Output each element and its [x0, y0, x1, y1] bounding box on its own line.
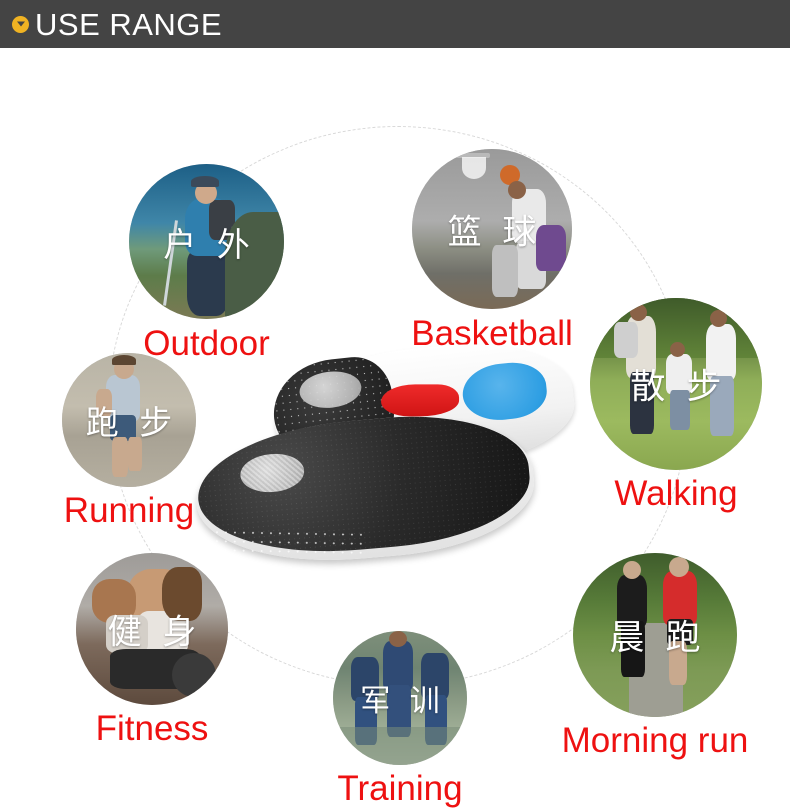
- section-header-bar: USE RANGE: [0, 0, 790, 48]
- morning-run-cn-overlay: 晨 跑: [573, 610, 737, 661]
- morning-run-photo: 晨 跑: [573, 553, 737, 717]
- training-label: Training: [337, 771, 462, 806]
- use-range-diagram: 户 外 Outdoor 篮 球 Basketball: [0, 48, 790, 745]
- chevron-down-circle-icon: [12, 16, 29, 33]
- outdoor-cn-overlay: 户 外: [129, 218, 284, 266]
- running-label: Running: [64, 493, 194, 528]
- insole-product-image: [196, 344, 582, 566]
- use-case-morning-run[interactable]: 晨 跑 Morning run: [573, 553, 737, 717]
- walking-cn-overlay: 散 步: [590, 359, 762, 410]
- use-case-walking[interactable]: 散 步 Walking: [590, 298, 762, 470]
- running-photo: 跑 步: [62, 353, 196, 487]
- outdoor-photo: 户 外: [129, 164, 284, 319]
- fitness-cn-overlay: 健 身: [76, 605, 228, 654]
- fitness-photo: 健 身: [76, 553, 228, 705]
- use-case-running[interactable]: 跑 步 Running: [62, 353, 196, 487]
- walking-photo: 散 步: [590, 298, 762, 470]
- training-cn-overlay: 军 训: [333, 676, 467, 720]
- insole-edge-perforations: [212, 528, 362, 557]
- use-case-outdoor[interactable]: 户 外 Outdoor: [129, 164, 284, 319]
- basketball-cn-overlay: 篮 球: [412, 205, 572, 254]
- page-title: USE RANGE: [35, 9, 222, 40]
- walking-label: Walking: [614, 476, 737, 511]
- insole-top-view: [191, 406, 540, 573]
- running-cn-overlay: 跑 步: [62, 396, 196, 444]
- fitness-label: Fitness: [96, 711, 209, 746]
- basketball-photo: 篮 球: [412, 149, 572, 309]
- morning-run-label: Morning run: [562, 723, 749, 758]
- use-case-fitness[interactable]: 健 身 Fitness: [76, 553, 228, 705]
- use-case-basketball[interactable]: 篮 球 Basketball: [412, 149, 572, 309]
